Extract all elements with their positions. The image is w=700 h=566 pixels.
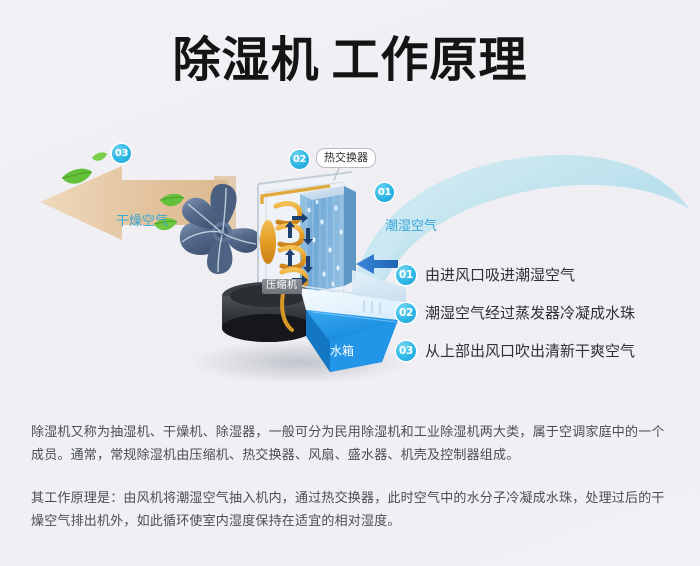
compressor-label: 压缩机 xyxy=(262,279,302,294)
badge-01-diagram: 01 xyxy=(375,183,394,202)
legend-text-01: 由进风口吸进潮湿空气 xyxy=(425,265,575,285)
legend-item-02: 02 潮湿空气经过蒸发器冷凝成水珠 xyxy=(396,294,686,332)
legend-badge-01: 01 xyxy=(396,265,416,285)
accumulator xyxy=(260,220,276,264)
title-part-1: 除湿机 xyxy=(172,32,319,88)
legend-badge-02: 02 xyxy=(396,303,416,323)
badge-02-diagram: 02 xyxy=(290,150,309,169)
water-tank-label: 水箱 xyxy=(330,342,354,359)
moist-air-label: 潮湿空气 xyxy=(385,215,437,234)
paragraph-1: 除湿机又称为抽湿机、干燥机、除湿器，一般可分为民用除湿机和工业除湿机两大类，属于… xyxy=(31,421,676,467)
infographic-page: 除湿机工作原理 xyxy=(0,0,700,566)
paragraph-2: 其工作原理是：由风机将潮湿空气抽入机内，通过热交换器，此时空气中的水分子冷凝成水… xyxy=(31,487,676,533)
body-copy: 除湿机又称为抽湿机、干燥机、除湿器，一般可分为民用除湿机和工业除湿机两大类，属于… xyxy=(31,421,676,533)
dry-air-label: 干燥空气 xyxy=(116,210,168,229)
legend-list: 01 由进风口吸进潮湿空气 02 潮湿空气经过蒸发器冷凝成水珠 03 从上部出风… xyxy=(396,256,686,370)
legend-badge-03: 03 xyxy=(396,341,416,361)
legend-item-03: 03 从上部出风口吹出清新干爽空气 xyxy=(396,332,686,370)
heat-exchanger-tooltip: 热交换器 xyxy=(316,148,376,168)
legend-text-02: 潮湿空气经过蒸发器冷凝成水珠 xyxy=(425,303,635,323)
legend-text-03: 从上部出风口吹出清新干爽空气 xyxy=(425,341,635,361)
title-part-2: 工作原理 xyxy=(332,32,528,88)
badge-03-diagram: 03 xyxy=(112,144,131,163)
legend-item-01: 01 由进风口吸进潮湿空气 xyxy=(396,256,686,294)
page-title: 除湿机工作原理 xyxy=(0,30,700,90)
